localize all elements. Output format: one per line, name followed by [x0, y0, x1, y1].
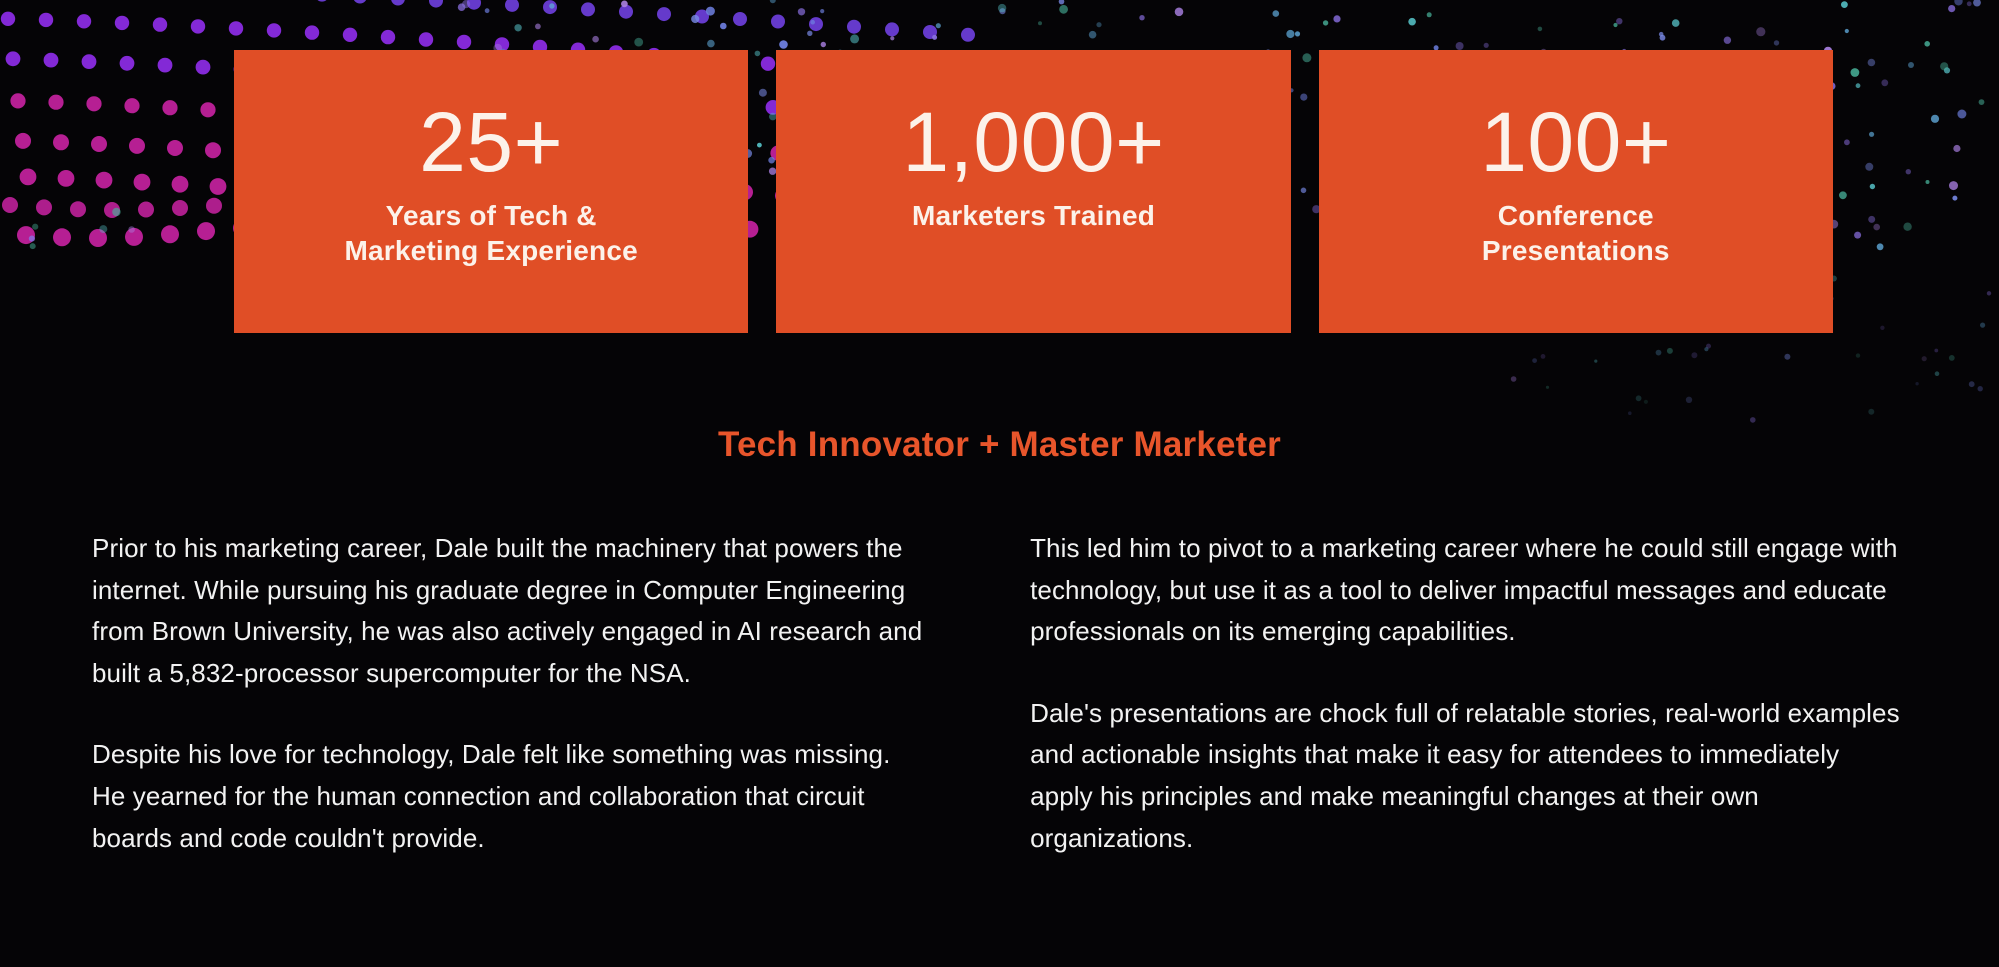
paragraph: Dale's presentations are chock full of r…: [1030, 693, 1907, 859]
stats-row: 25+ Years of Tech & Marketing Experience…: [234, 50, 1833, 333]
stat-label: Years of Tech & Marketing Experience: [344, 198, 637, 268]
paragraph: Despite his love for technology, Dale fe…: [92, 734, 925, 859]
stat-number: 1,000+: [902, 100, 1164, 184]
stat-card-presentations: 100+ Conference Presentations: [1319, 50, 1833, 333]
stat-card-marketers: 1,000+ Marketers Trained: [776, 50, 1290, 333]
body-columns: Prior to his marketing career, Dale buil…: [92, 528, 1907, 859]
stat-label: Marketers Trained: [912, 198, 1155, 233]
section-heading: Tech Innovator + Master Marketer: [0, 425, 1999, 465]
paragraph: This led him to pivot to a marketing car…: [1030, 528, 1907, 653]
body-column-right: This led him to pivot to a marketing car…: [1030, 528, 1907, 859]
body-column-left: Prior to his marketing career, Dale buil…: [92, 528, 925, 859]
stat-card-years: 25+ Years of Tech & Marketing Experience: [234, 50, 748, 333]
page-root: 25+ Years of Tech & Marketing Experience…: [0, 0, 1999, 967]
stat-number: 100+: [1480, 100, 1671, 184]
stat-number: 25+: [419, 100, 563, 184]
stat-label: Conference Presentations: [1482, 198, 1670, 268]
paragraph: Prior to his marketing career, Dale buil…: [92, 528, 925, 694]
